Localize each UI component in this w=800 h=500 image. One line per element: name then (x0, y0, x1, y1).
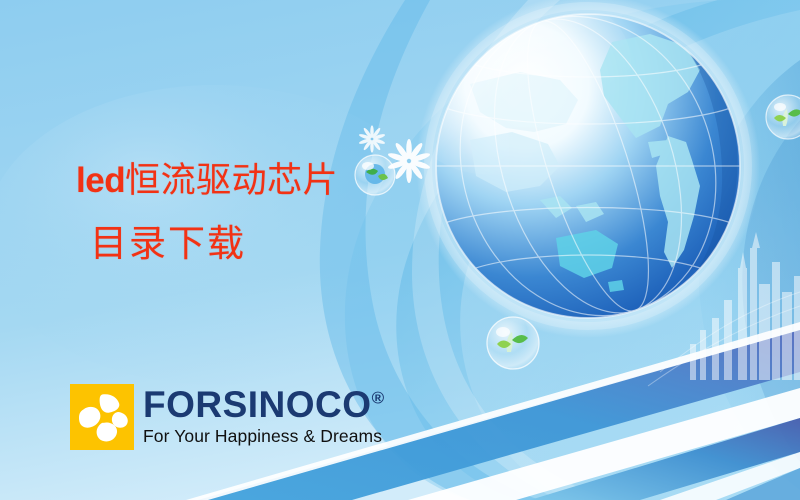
headline-block: led恒流驱动芯片 目录下载 (76, 160, 338, 267)
bubble-globe-icon (355, 155, 395, 195)
promo-banner: led恒流驱动芯片 目录下载 FORSINOCO® For Your Happi… (0, 0, 800, 500)
registered-trademark-icon: ® (372, 389, 385, 408)
headline-latin-text: led (76, 161, 125, 200)
headline-line-1: led恒流驱动芯片 (76, 160, 338, 201)
logo-tagline: For Your Happiness & Dreams (143, 426, 384, 447)
pinwheel-four-petal-icon (70, 384, 134, 450)
logo-wordmark: FORSINOCO® For Your Happiness & Dreams (143, 387, 384, 447)
logo-name-text: FORSINOCO (143, 384, 372, 425)
company-logo: FORSINOCO® For Your Happiness & Dreams (70, 384, 384, 450)
headline-cjk-text: 恒流驱动芯片 (125, 161, 338, 200)
bubble-sprout-icon (766, 95, 800, 139)
headline-line-2: 目录下载 (90, 223, 338, 267)
logo-company-name: FORSINOCO® (143, 387, 384, 422)
bubble-sprout-icon (487, 317, 539, 369)
